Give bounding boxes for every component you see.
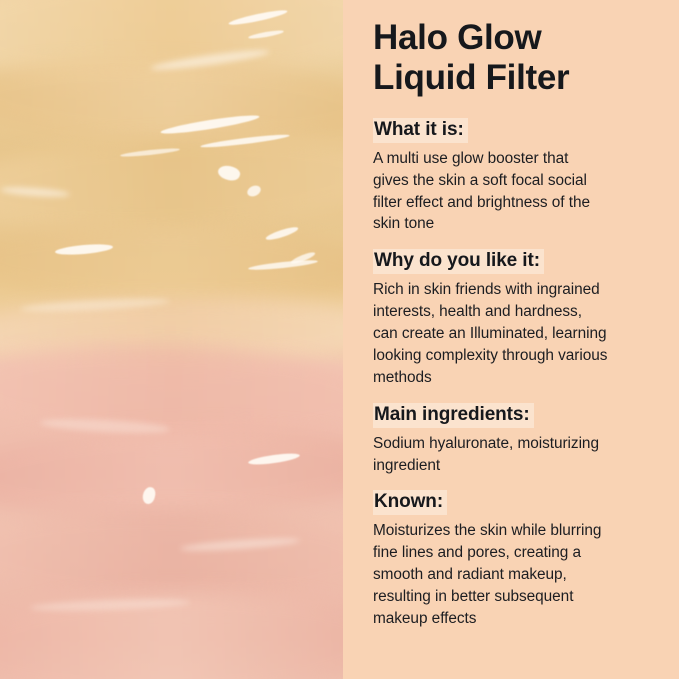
section-body: Rich in skin friends with ingrained inte… (373, 279, 657, 388)
section-body: Sodium hyaluronate, moisturizing ingredi… (373, 433, 657, 477)
section-main-ingredients: Main ingredients: Sodium hyaluronate, mo… (373, 403, 657, 477)
page-title: Halo Glow Liquid Filter (373, 18, 657, 98)
product-description-panel: Halo Glow Liquid Filter What it is: A mu… (343, 0, 679, 679)
section-heading: Known: (373, 490, 447, 515)
section-body: A multi use glow booster that gives the … (373, 148, 657, 236)
section-body: Moisturizes the skin while blurring fine… (373, 520, 657, 629)
section-why-do-you-like-it: Why do you like it: Rich in skin friends… (373, 249, 657, 388)
section-known: Known: Moisturizes the skin while blurri… (373, 490, 657, 629)
section-heading: Main ingredients: (373, 403, 534, 428)
product-swatch-image (0, 0, 343, 679)
section-heading: Why do you like it: (373, 249, 544, 274)
product-infographic: Halo Glow Liquid Filter What it is: A mu… (0, 0, 679, 679)
section-heading: What it is: (373, 118, 468, 143)
section-what-it-is: What it is: A multi use glow booster tha… (373, 118, 657, 236)
